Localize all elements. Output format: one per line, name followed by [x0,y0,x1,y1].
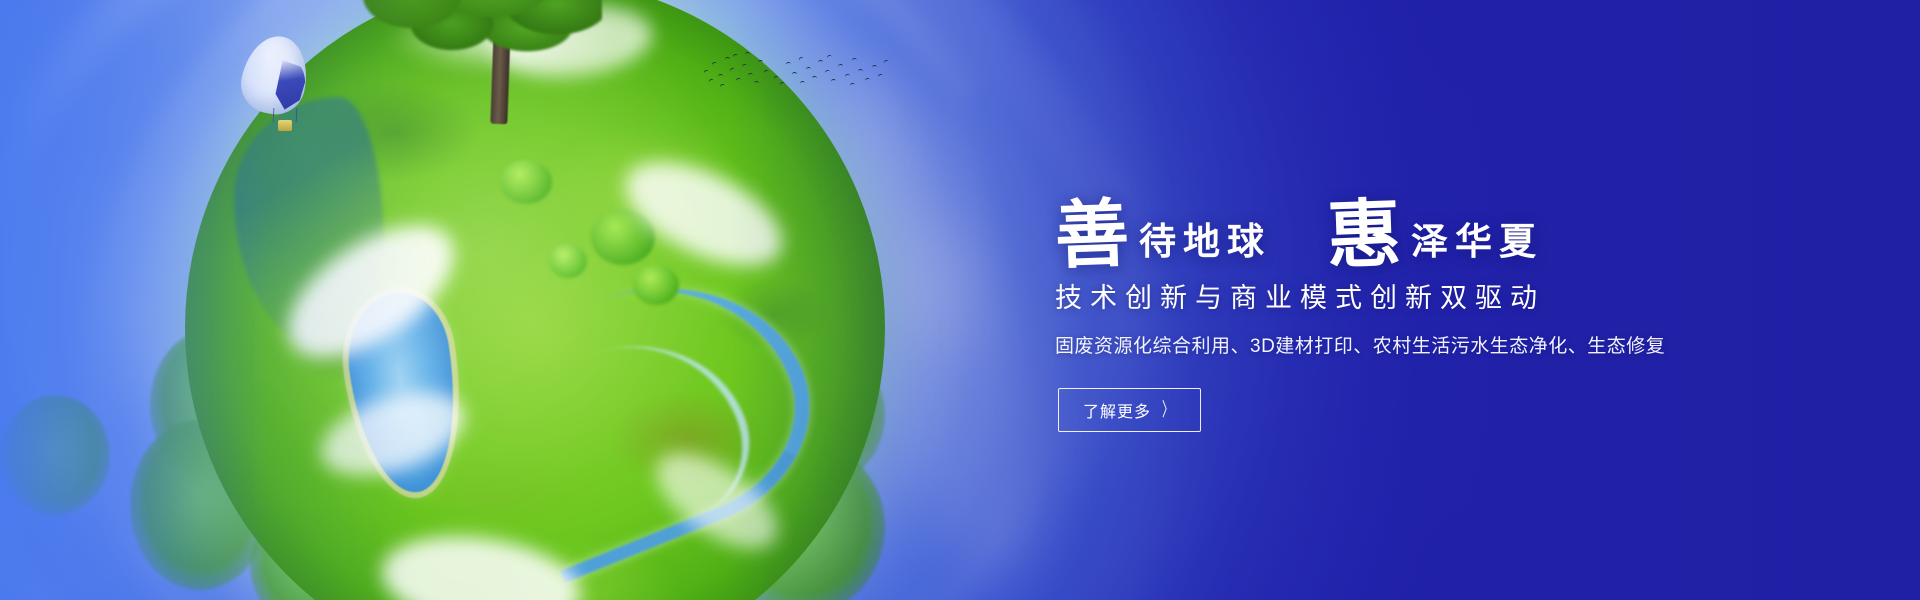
page-subtitle: 技术创新与商业模式创新双驱动 [1055,282,1545,314]
hero-banner: 善 待地球 惠 泽华夏 技术创新与商业模式创新双驱动 固废资源化综合利用、3D建… [0,0,1920,600]
headline-segment-two: 惠 泽华夏 [1327,192,1543,266]
headline-small-text-one: 待地球 [1133,223,1271,260]
chevron-right-icon: 〉 [1162,401,1174,420]
page-title: 善 待地球 惠 泽华夏 [1055,192,1543,266]
learn-more-label: 了解更多 [1083,398,1151,422]
hero-content: 善 待地球 惠 泽华夏 技术创新与商业模式创新双驱动 固废资源化综合利用、3D建… [1055,0,1815,600]
headline-big-char-one: 善 [1054,197,1135,274]
headline-segment-one: 善 待地球 [1055,192,1271,266]
headline-small-text-two: 泽华夏 [1405,223,1543,260]
headline-big-char-two: 惠 [1326,197,1407,274]
learn-more-button[interactable]: 了解更多 〉 [1058,388,1201,432]
page-tagline: 固废资源化综合利用、3D建材打印、农村生活污水生态净化、生态修复 [1055,335,1665,360]
